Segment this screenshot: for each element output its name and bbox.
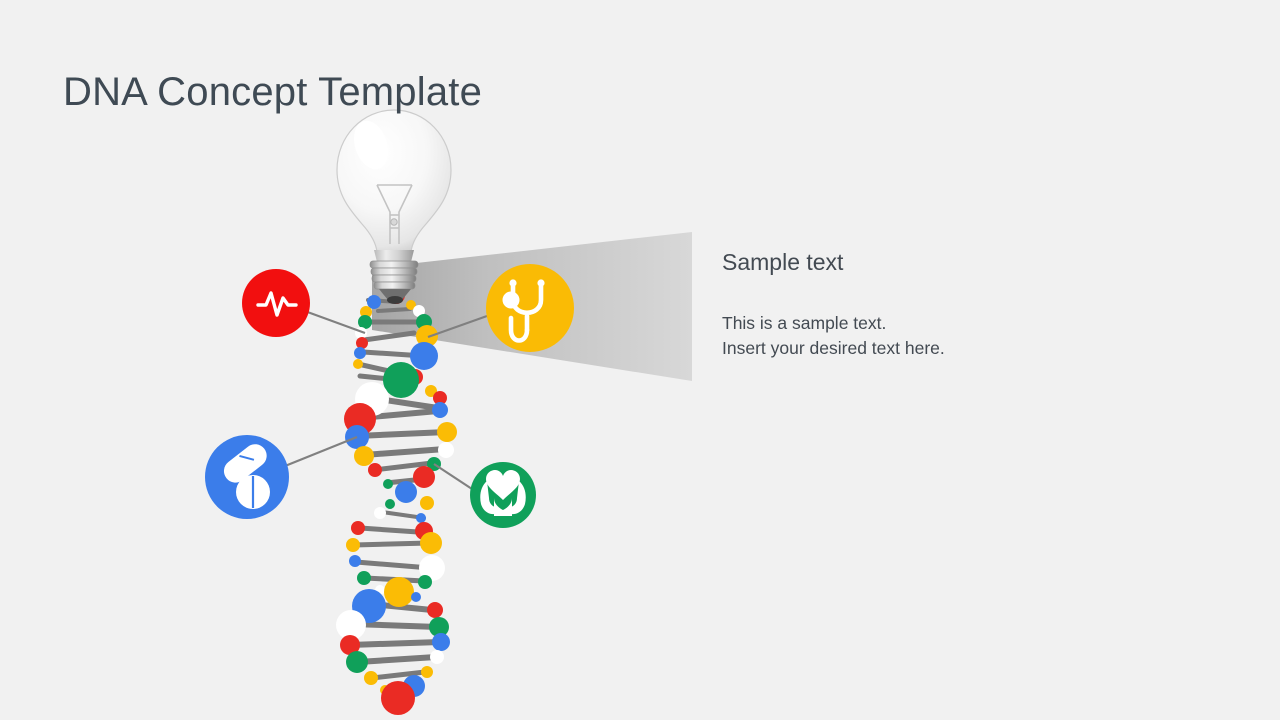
stethoscope-bell-icon [503,292,520,309]
connector-stethoscope [428,316,487,337]
connector-caring-hands [434,464,472,489]
heart-icon [486,470,520,500]
connector-heartbeat [302,310,365,333]
connector-pills [285,437,357,466]
hand-left-icon [480,481,495,514]
text-panel-body-line-1: This is a sample text. [722,311,1142,337]
light-bulb [337,110,451,304]
page-title: DNA Concept Template [63,69,482,115]
icon-stethoscope[interactable] [486,264,574,352]
text-panel-body: This is a sample text. Insert your desir… [722,311,1142,362]
light-beam [372,232,692,381]
text-panel-heading: Sample text [722,248,1142,277]
text-panel: Sample text This is a sample text. Inser… [722,248,1142,362]
icon-pills[interactable] [205,435,289,519]
icon-heartbeat[interactable] [242,269,310,337]
capsule-icon [219,440,271,488]
pulse-line-icon [258,293,296,315]
dna-double-helix [336,286,457,715]
slide-canvas: DNA Concept Template Sample text This is… [0,0,1280,720]
text-panel-body-line-2: Insert your desired text here. [722,336,1142,362]
icon-connectors [285,310,487,489]
hand-right-icon [511,481,526,514]
icon-caring-hands[interactable] [470,462,536,528]
tablet-icon [236,475,270,509]
stethoscope-icon [511,285,541,341]
